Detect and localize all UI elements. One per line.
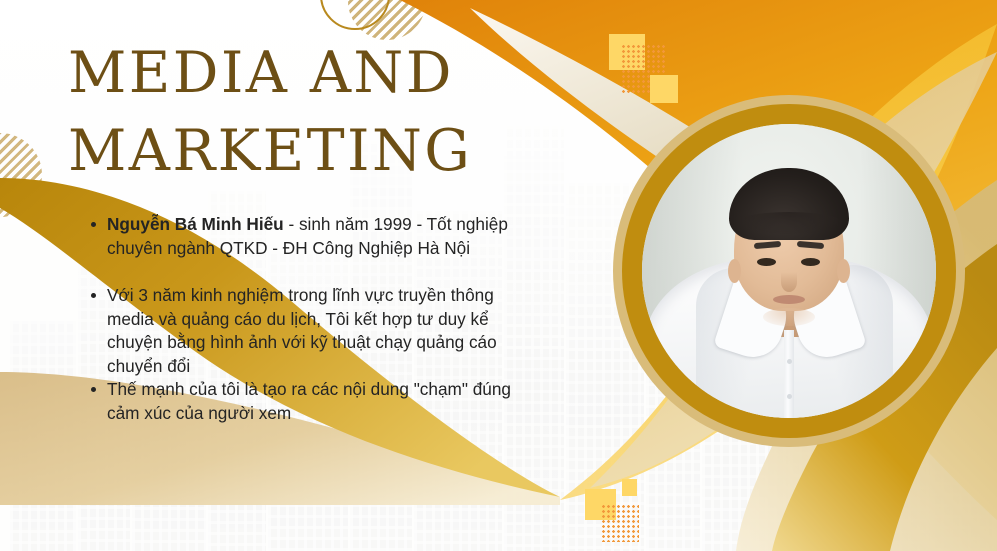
experience-text: Với 3 năm kinh nghiệm trong lĩnh vực tru… bbox=[107, 285, 497, 376]
portrait-photo bbox=[642, 124, 936, 418]
page-title: MEDIA AND MARKETING bbox=[68, 34, 568, 190]
portrait-inner-gold-ring bbox=[622, 104, 956, 438]
strength-text: Thế mạnh của tôi là tạo ra các nội dung … bbox=[107, 379, 511, 423]
yellow-square-decoration-bottom-2 bbox=[622, 479, 637, 496]
bullet-list: Nguyễn Bá Minh Hiếu - sinh năm 1999 - Tố… bbox=[88, 213, 538, 425]
portrait-photo-frame bbox=[613, 95, 965, 447]
list-spacer bbox=[88, 260, 538, 284]
list-item: Nguyễn Bá Minh Hiếu - sinh năm 1999 - Tố… bbox=[88, 213, 538, 260]
person-name: Nguyễn Bá Minh Hiếu bbox=[107, 214, 284, 234]
list-item: Với 3 năm kinh nghiệm trong lĩnh vực tru… bbox=[88, 284, 538, 378]
slide-canvas: MEDIA AND MARKETING Nguyễn Bá Minh Hiếu … bbox=[0, 0, 997, 551]
orange-dot-grid-bottom bbox=[601, 504, 639, 542]
yellow-square-decoration-top-2 bbox=[650, 75, 678, 103]
list-item: Thế mạnh của tôi là tạo ra các nội dung … bbox=[88, 378, 538, 425]
